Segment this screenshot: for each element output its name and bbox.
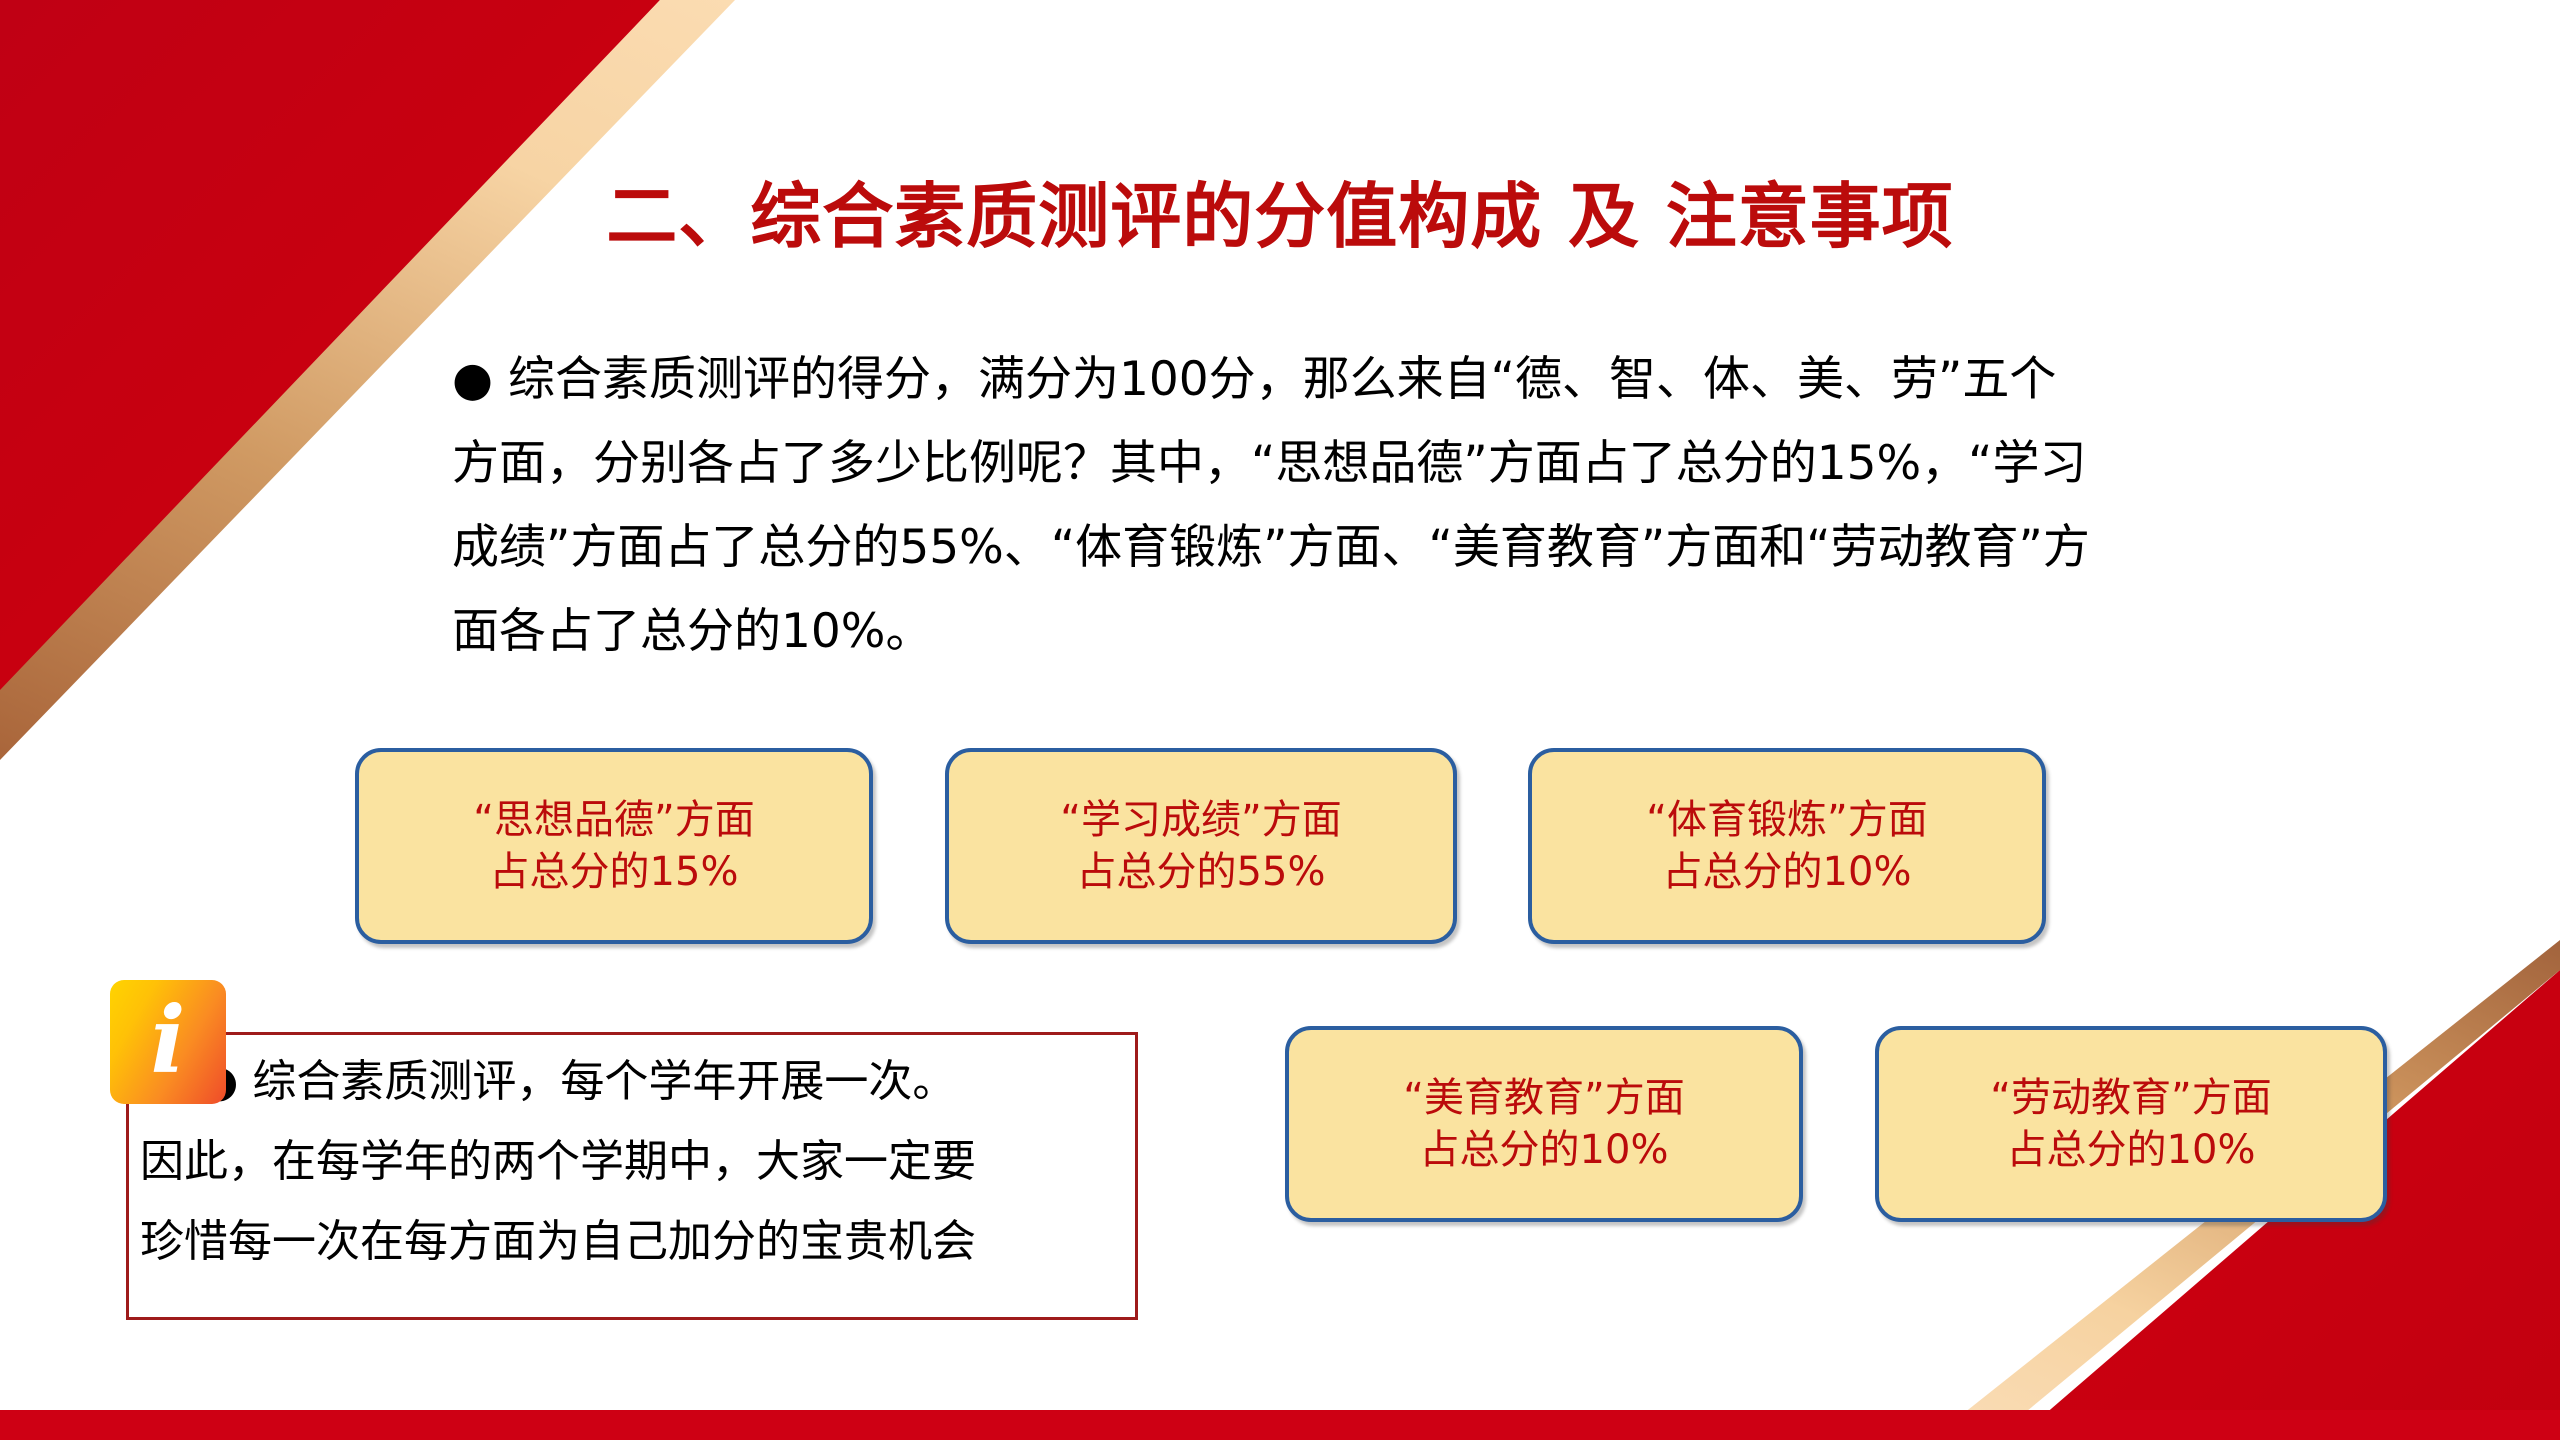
body-paragraph-line-3: 成绩”方面占了总分的55%、“体育锻炼”方面、“美育教育”方面和“劳动教育”方 bbox=[452, 506, 2152, 590]
body-paragraph: ● 综合素质测评的得分，满分为100分，那么来自“德、智、体、美、劳”五个 方面… bbox=[452, 338, 2152, 674]
info-icon-glyph: i bbox=[151, 994, 186, 1086]
score-box-labor[interactable]: “劳动教育”方面 占总分的10% bbox=[1875, 1026, 2387, 1222]
body-paragraph-line-2: 方面，分别各占了多少比例呢？其中，“思想品德”方面占了总分的15%，“学习 bbox=[452, 422, 2152, 506]
score-box-academic[interactable]: “学习成绩”方面 占总分的55% bbox=[945, 748, 1457, 944]
score-box-aspect-label: “学习成绩”方面 bbox=[1060, 794, 1341, 846]
info-icon: i bbox=[110, 980, 226, 1104]
note-line-1: ● 综合素质测评，每个学年开展一次。 bbox=[140, 1042, 1140, 1122]
score-box-percent-label: 占总分的10% bbox=[1420, 1124, 1669, 1176]
body-paragraph-line-1: ● 综合素质测评的得分，满分为100分，那么来自“德、智、体、美、劳”五个 bbox=[452, 338, 2152, 422]
note-line-2: 因此，在每学年的两个学期中，大家一定要 bbox=[140, 1122, 1140, 1202]
score-box-aspect-label: “思想品德”方面 bbox=[473, 794, 754, 846]
score-box-percent-label: 占总分的15% bbox=[490, 846, 739, 898]
bottom-red-bar bbox=[0, 1410, 2560, 1440]
score-box-aspect-label: “体育锻炼”方面 bbox=[1646, 794, 1927, 846]
score-box-moral[interactable]: “思想品德”方面 占总分的15% bbox=[355, 748, 873, 944]
score-box-physical[interactable]: “体育锻炼”方面 占总分的10% bbox=[1528, 748, 2046, 944]
page-title: 二、综合素质测评的分值构成 及 注意事项 bbox=[0, 176, 2560, 258]
score-box-percent-label: 占总分的10% bbox=[1663, 846, 1912, 898]
score-box-aspect-label: “美育教育”方面 bbox=[1403, 1072, 1684, 1124]
score-box-aspect-label: “劳动教育”方面 bbox=[1990, 1072, 2271, 1124]
body-paragraph-line-4: 面各占了总分的10%。 bbox=[452, 590, 2152, 674]
slide-canvas: 二、综合素质测评的分值构成 及 注意事项 ● 综合素质测评的得分，满分为100分… bbox=[0, 0, 2560, 1440]
score-box-aesthetic[interactable]: “美育教育”方面 占总分的10% bbox=[1285, 1026, 1803, 1222]
note-line-3: 珍惜每一次在每方面为自己加分的宝贵机会 bbox=[140, 1202, 1140, 1282]
score-box-percent-label: 占总分的10% bbox=[2007, 1124, 2256, 1176]
note-text: ● 综合素质测评，每个学年开展一次。 因此，在每学年的两个学期中，大家一定要 珍… bbox=[140, 1042, 1140, 1282]
score-box-percent-label: 占总分的55% bbox=[1077, 846, 1326, 898]
